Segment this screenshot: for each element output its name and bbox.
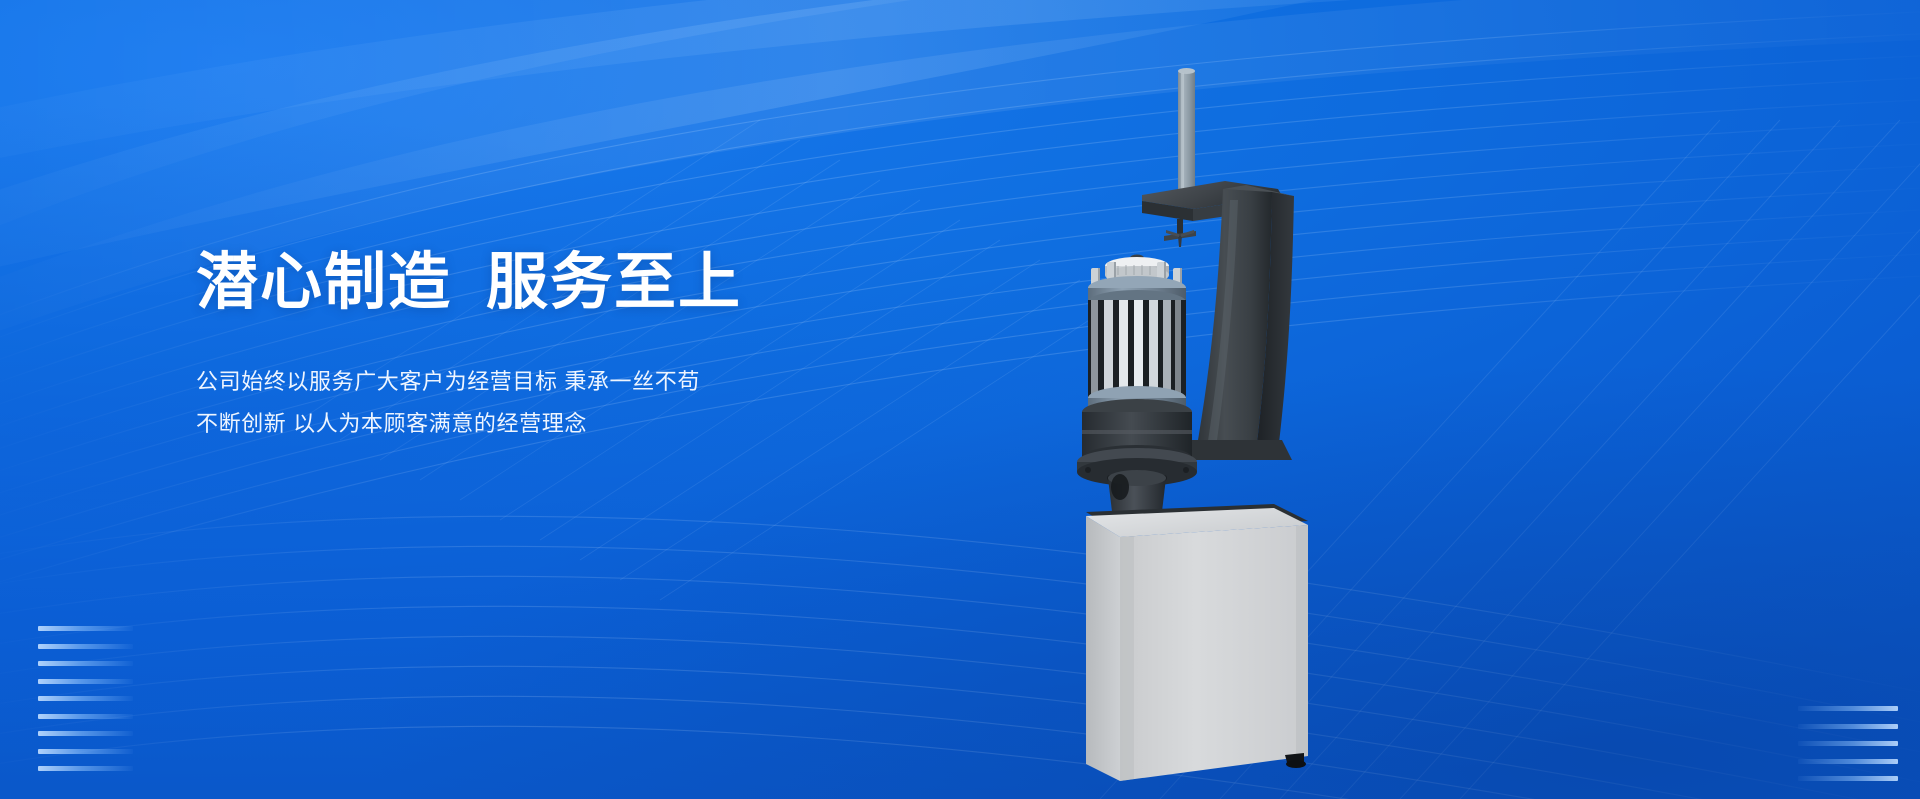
banner-subtitle: 公司始终以服务广大客户为经营目标 秉承一丝不苟 不断创新 以人为本顾客满意的经营… — [196, 317, 742, 445]
decorative-bar — [38, 644, 133, 649]
decorative-bar — [38, 766, 133, 771]
machine-drawing — [1060, 0, 1620, 799]
cylinder-ribs — [1091, 300, 1181, 398]
decorative-bar — [38, 714, 133, 719]
decorative-bar — [38, 696, 133, 701]
decorative-bar — [1798, 741, 1898, 746]
curved-column — [1184, 185, 1294, 460]
decorative-bar — [38, 731, 133, 736]
decorative-bar — [38, 626, 133, 631]
headline-part-1: 潜心制造 — [196, 248, 452, 317]
banner-subtitle-line-2: 不断创新 以人为本顾客满意的经营理念 — [196, 403, 742, 445]
decorative-bars-bottom-left — [38, 626, 133, 771]
banner-headline: 潜心制造服务至上 — [196, 250, 742, 317]
decorative-bar — [1798, 724, 1898, 729]
decorative-bars-bottom-right — [1798, 706, 1898, 781]
banner-subtitle-line-1: 公司始终以服务广大客户为经营目标 秉承一丝不苟 — [196, 361, 742, 403]
cabinet-base — [1086, 504, 1308, 781]
vertical-rod — [1178, 68, 1195, 200]
motor-housing — [1077, 399, 1197, 527]
decorative-bar — [1798, 706, 1898, 711]
decorative-bar — [1798, 776, 1898, 781]
decorative-bar — [38, 661, 133, 666]
decorative-bar — [38, 679, 133, 684]
ribbed-cylinder-head — [1088, 255, 1186, 425]
decorative-bar — [1798, 759, 1898, 764]
banner-copy: 潜心制造服务至上 公司始终以服务广大客户为经营目标 秉承一丝不苟 不断创新 以人… — [196, 250, 742, 445]
headline-part-2: 服务至上 — [486, 248, 742, 317]
product-illustration — [1060, 0, 1620, 799]
hero-banner: 潜心制造服务至上 公司始终以服务广大客户为经营目标 秉承一丝不苟 不断创新 以人… — [0, 0, 1920, 799]
decorative-bar — [38, 749, 133, 754]
decorative-bars-right — [1814, 103, 1920, 283]
